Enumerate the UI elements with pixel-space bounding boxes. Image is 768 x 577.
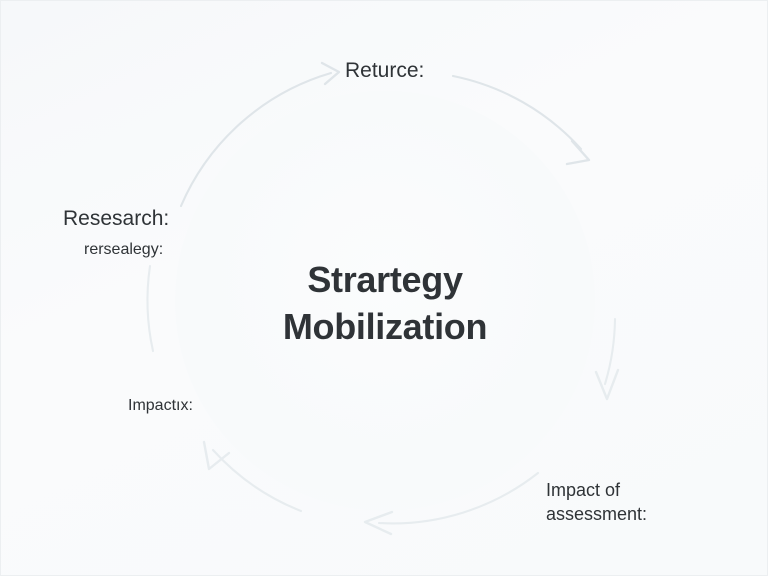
diagram-canvas: .arc { fill: none; stroke: #dfe5e9; stro…	[0, 0, 768, 576]
node-label-left: Resesarch:	[63, 205, 169, 233]
center-title-line-2: Mobilization	[175, 304, 595, 351]
arrow-bottom-icon	[365, 473, 538, 534]
node-label-lower-left-text: Impactıx:	[128, 395, 193, 416]
arrow-right-bottom-icon	[596, 319, 618, 399]
node-label-left-sub-text: rersealegy:	[84, 239, 163, 260]
node-label-top: Returce:	[345, 57, 424, 85]
arrow-top-left-icon	[181, 63, 339, 206]
node-label-left-text: Resesarch:	[63, 205, 169, 233]
node-label-left-sub: rersealegy:	[84, 239, 163, 260]
center-title-block: Strartegy Mobilization	[175, 257, 595, 351]
node-label-lower-right: Impact of assessment:	[546, 478, 647, 526]
node-label-lower-right-line-1: Impact of	[546, 478, 647, 502]
node-label-lower-right-line-2: assessment:	[546, 502, 647, 526]
node-label-top-text: Returce:	[345, 57, 424, 85]
node-label-lower-left: Impactıx:	[128, 395, 193, 416]
center-title-line-1: Strartegy	[175, 257, 595, 304]
arrow-top-right-icon	[453, 76, 589, 164]
